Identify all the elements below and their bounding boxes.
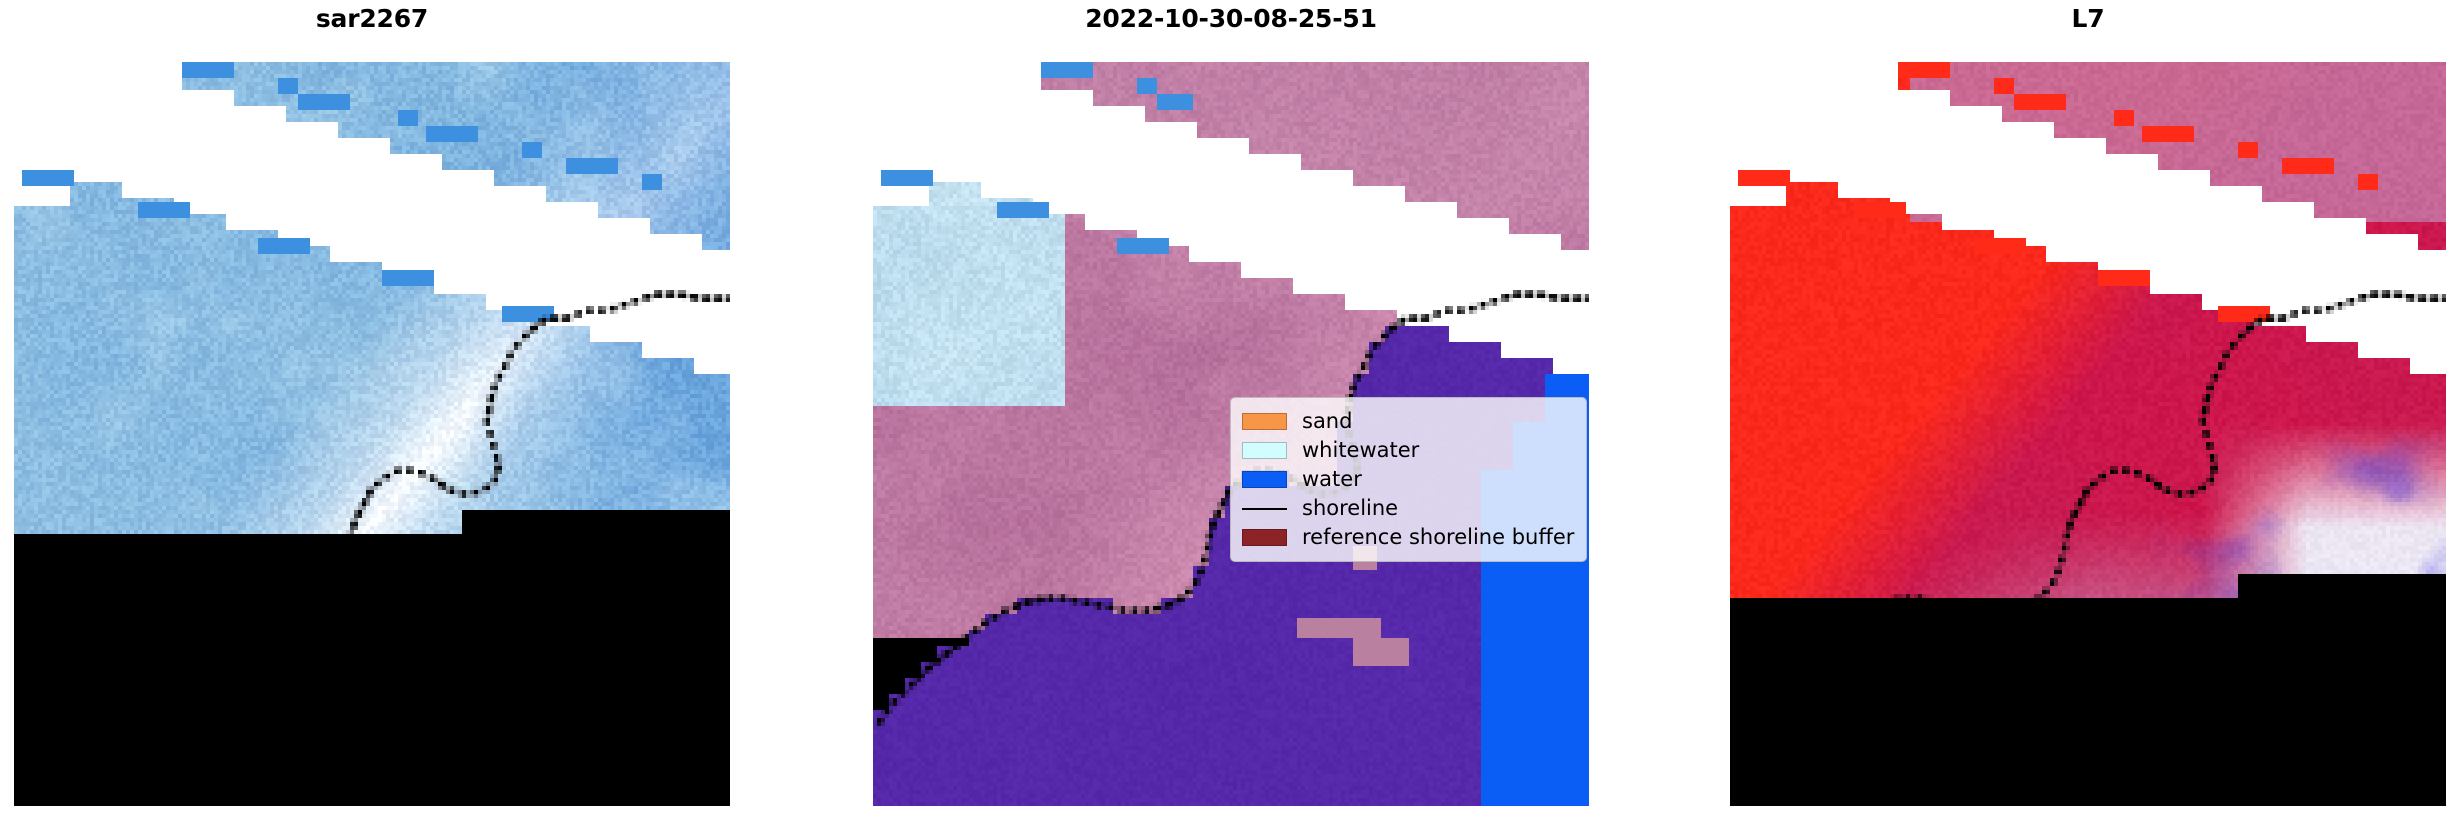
legend-item-water: water — [1242, 465, 1574, 494]
panel-sar2267: sar2267 — [14, 0, 730, 824]
shoreline-line-icon — [1242, 500, 1287, 517]
legend-item-sand: sand — [1242, 407, 1574, 436]
reference-buffer-swatch-icon — [1242, 529, 1287, 546]
water-swatch-icon — [1242, 471, 1287, 488]
legend-label-whitewater: whitewater — [1302, 440, 1419, 461]
panel-image-wrap-3 — [1730, 38, 2446, 806]
panel-title-1: sar2267 — [14, 4, 730, 34]
legend: sand whitewater water shoreline referenc… — [1230, 397, 1587, 562]
panel-image-sar2267 — [14, 38, 730, 806]
legend-item-shoreline: shoreline — [1242, 494, 1574, 523]
sand-swatch-icon — [1242, 413, 1287, 430]
legend-label-sand: sand — [1302, 411, 1352, 432]
panel-image-wrap-1 — [14, 38, 730, 806]
figure-root: sar2267 2022-10-30-08-25-51 sand whitewa… — [0, 0, 2460, 824]
legend-label-shoreline: shoreline — [1302, 498, 1398, 519]
panel-classified: 2022-10-30-08-25-51 sand whitewater wate… — [873, 0, 1589, 824]
panel-title-3: L7 — [1730, 4, 2446, 34]
legend-item-reference-buffer: reference shoreline buffer — [1242, 523, 1574, 552]
whitewater-swatch-icon — [1242, 442, 1287, 459]
legend-label-water: water — [1302, 469, 1362, 490]
panel-title-2: 2022-10-30-08-25-51 — [873, 4, 1589, 34]
legend-label-reference-buffer: reference shoreline buffer — [1302, 527, 1574, 548]
panel-image-L7 — [1730, 38, 2446, 806]
legend-item-whitewater: whitewater — [1242, 436, 1574, 465]
panel-L7: L7 — [1730, 0, 2446, 824]
